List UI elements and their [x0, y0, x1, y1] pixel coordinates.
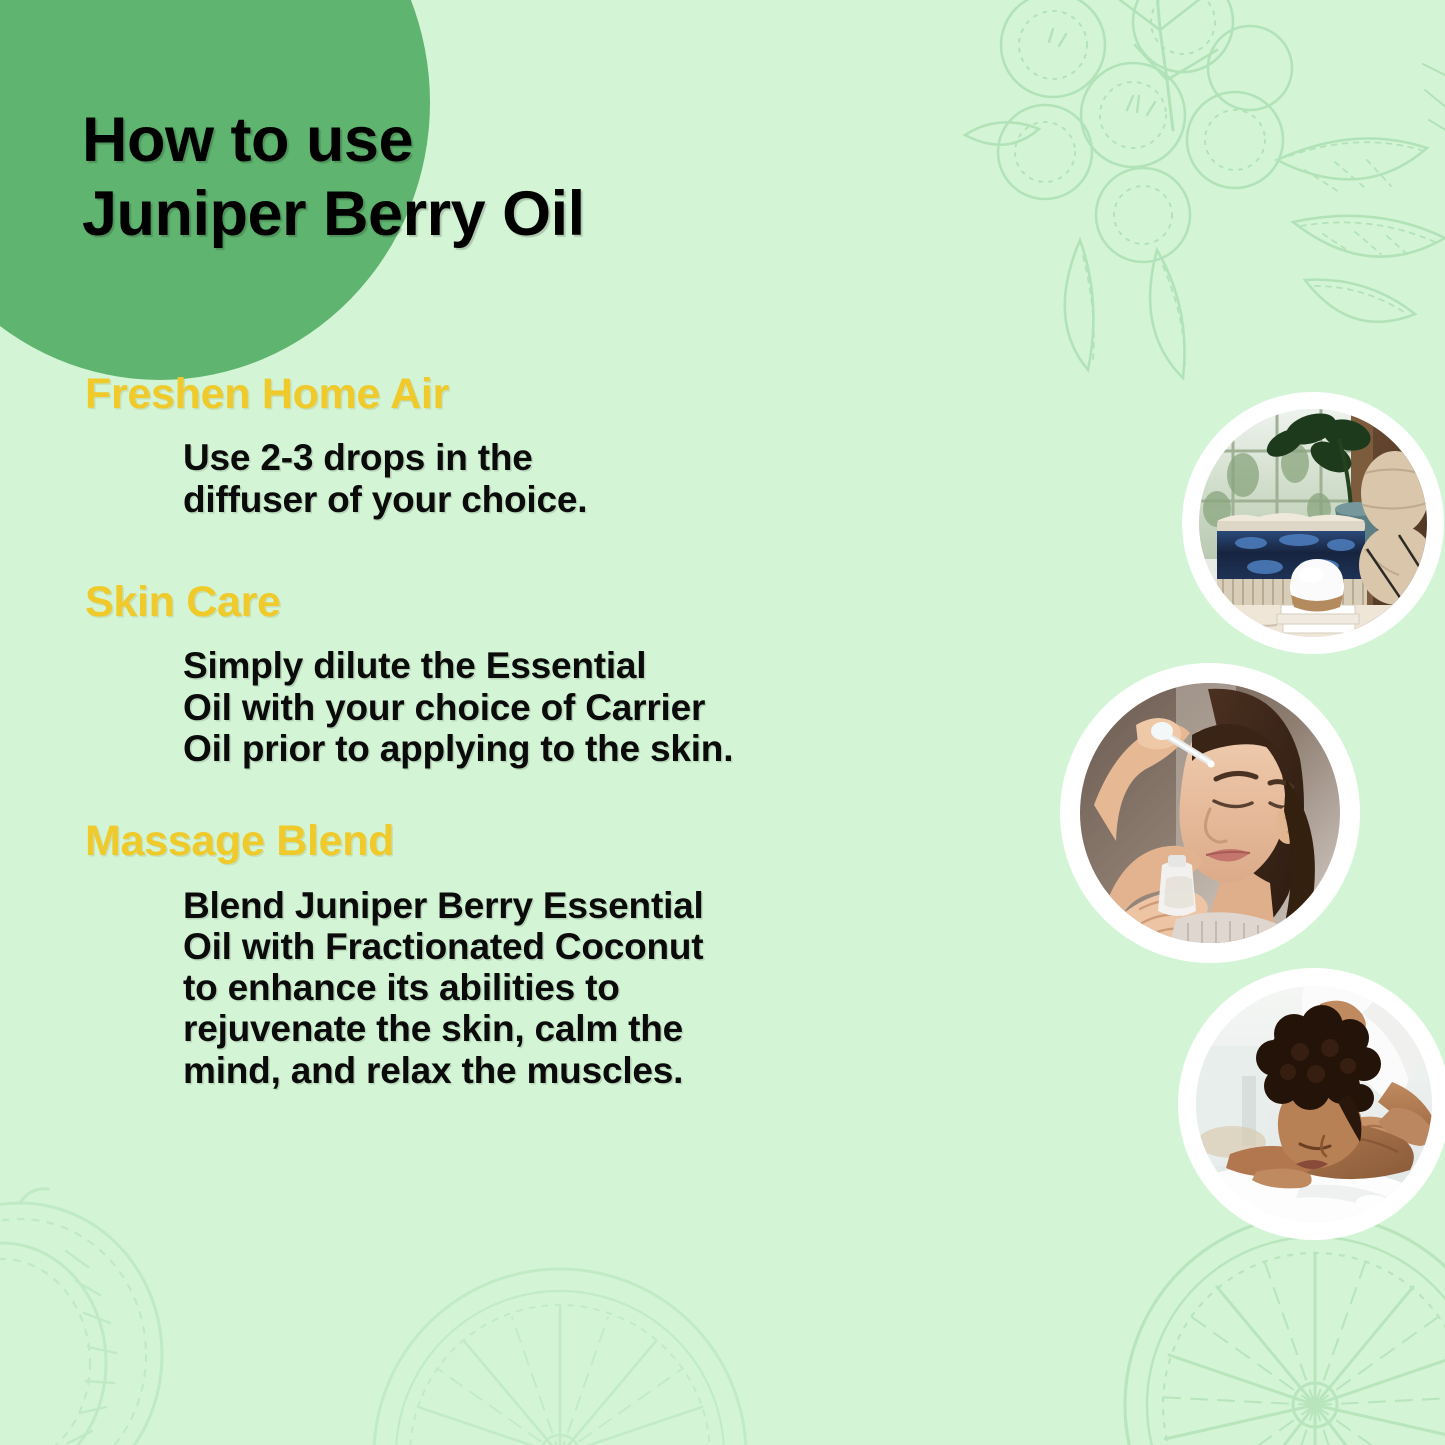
citrus-slice-illustration-center — [350, 1255, 770, 1445]
body-line: rejuvenate the skin, calm the — [183, 1008, 1010, 1049]
photo-woman-applying-facial-serum — [1060, 663, 1360, 963]
section-body-massage-blend: Blend Juniper Berry Essential Oil with F… — [183, 885, 1010, 1091]
page-title-line-2: Juniper Berry Oil — [82, 177, 902, 251]
page-title-line-1: How to use — [82, 103, 902, 177]
body-line: Use 2-3 drops in the — [183, 437, 1010, 478]
section-body-freshen-home-air: Use 2-3 drops in the diffuser of your ch… — [183, 437, 1010, 520]
body-line: Oil prior to applying to the skin. — [183, 728, 1010, 769]
section-skin-care: Skin Care Simply dilute the Essential Oi… — [0, 576, 1010, 769]
photo-inner-2 — [1080, 683, 1340, 943]
section-heading-freshen-home-air: Freshen Home Air — [85, 368, 1010, 420]
body-line: mind, and relax the muscles. — [183, 1050, 1010, 1091]
body-line: Blend Juniper Berry Essential — [183, 885, 1010, 926]
juniper-berry-branch-illustration — [905, 0, 1445, 400]
body-line: to enhance its abilities to — [183, 967, 1010, 1008]
body-line: Oil with Fractionated Coconut — [183, 926, 1010, 967]
section-freshen-home-air: Freshen Home Air Use 2-3 drops in the di… — [0, 368, 1010, 520]
photo-inner-3 — [1196, 986, 1432, 1222]
usage-sections: Freshen Home Air Use 2-3 drops in the di… — [0, 368, 1010, 1107]
section-massage-blend: Massage Blend Blend Juniper Berry Essent… — [0, 815, 1010, 1091]
body-line: diffuser of your choice. — [183, 479, 1010, 520]
photo-woman-receiving-back-massage — [1178, 968, 1445, 1240]
photo-inner-1 — [1199, 409, 1427, 637]
section-body-skin-care: Simply dilute the Essential Oil with you… — [183, 645, 1010, 769]
body-line: Simply dilute the Essential — [183, 645, 1010, 686]
citrus-slice-illustration-right — [1110, 1205, 1445, 1445]
section-heading-skin-care: Skin Care — [85, 576, 1010, 628]
infographic-poster: How to use Juniper Berry Oil Freshen Hom… — [0, 0, 1445, 1445]
photo-diffuser-in-living-room — [1182, 392, 1444, 654]
section-heading-massage-blend: Massage Blend — [85, 815, 1010, 867]
body-line: Oil with your choice of Carrier — [183, 687, 1010, 728]
page-title: How to use Juniper Berry Oil — [82, 103, 902, 252]
whole-fruit-illustration — [0, 1185, 230, 1445]
